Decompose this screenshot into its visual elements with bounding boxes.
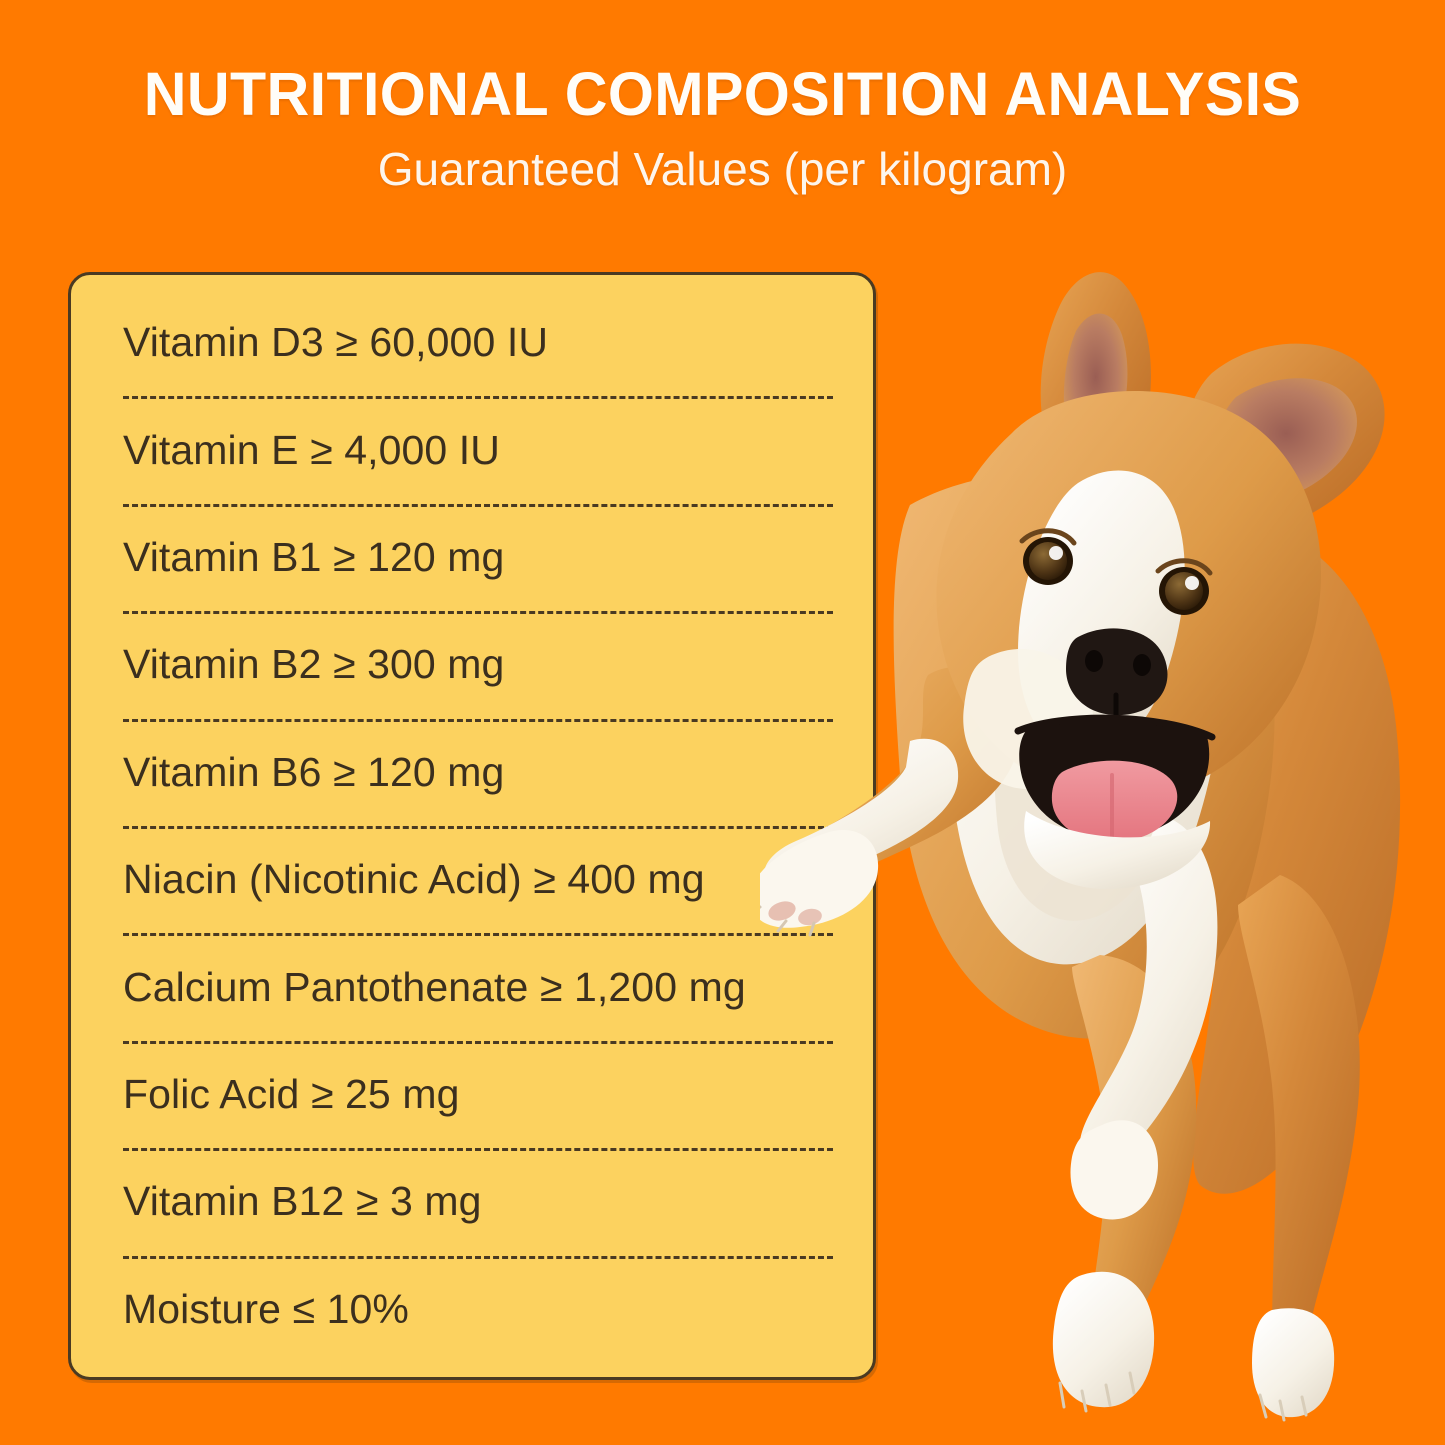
list-item: Moisture ≤ 10%	[123, 1256, 833, 1363]
list-item: Calcium Pantothenate ≥ 1,200 mg	[123, 933, 833, 1040]
nutrition-card: Vitamin D3 ≥ 60,000 IU Vitamin E ≥ 4,000…	[68, 272, 876, 1380]
nutrient-label: Vitamin B6 ≥ 120 mg	[123, 749, 504, 796]
nutrient-list: Vitamin D3 ≥ 60,000 IU Vitamin E ≥ 4,000…	[71, 275, 873, 1377]
poster-header: NUTRITIONAL COMPOSITION ANALYSIS Guarant…	[0, 0, 1445, 195]
nutrient-label: Vitamin E ≥ 4,000 IU	[123, 427, 500, 474]
poster-canvas: NUTRITIONAL COMPOSITION ANALYSIS Guarant…	[0, 0, 1445, 1445]
nutrient-label: Calcium Pantothenate ≥ 1,200 mg	[123, 964, 746, 1011]
list-item: Vitamin B6 ≥ 120 mg	[123, 719, 833, 826]
list-item: Vitamin B12 ≥ 3 mg	[123, 1148, 833, 1255]
list-item: Vitamin B2 ≥ 300 mg	[123, 611, 833, 718]
page-title: NUTRITIONAL COMPOSITION ANALYSIS	[22, 0, 1424, 126]
list-item: Vitamin E ≥ 4,000 IU	[123, 396, 833, 503]
nutrient-label: Vitamin D3 ≥ 60,000 IU	[123, 319, 548, 366]
nutrient-label: Vitamin B2 ≥ 300 mg	[123, 641, 504, 688]
page-subtitle: Guaranteed Values (per kilogram)	[0, 126, 1445, 195]
nutrient-label: Vitamin B1 ≥ 120 mg	[123, 534, 504, 581]
nutrient-label: Vitamin B12 ≥ 3 mg	[123, 1178, 482, 1225]
nutrient-label: Folic Acid ≥ 25 mg	[123, 1071, 460, 1118]
nutrient-label: Moisture ≤ 10%	[123, 1286, 409, 1333]
nutrient-label: Niacin (Nicotinic Acid) ≥ 400 mg	[123, 856, 705, 903]
list-item: Vitamin B1 ≥ 120 mg	[123, 504, 833, 611]
list-item: Vitamin D3 ≥ 60,000 IU	[123, 289, 833, 396]
list-item: Niacin (Nicotinic Acid) ≥ 400 mg	[123, 826, 833, 933]
list-item: Folic Acid ≥ 25 mg	[123, 1041, 833, 1148]
